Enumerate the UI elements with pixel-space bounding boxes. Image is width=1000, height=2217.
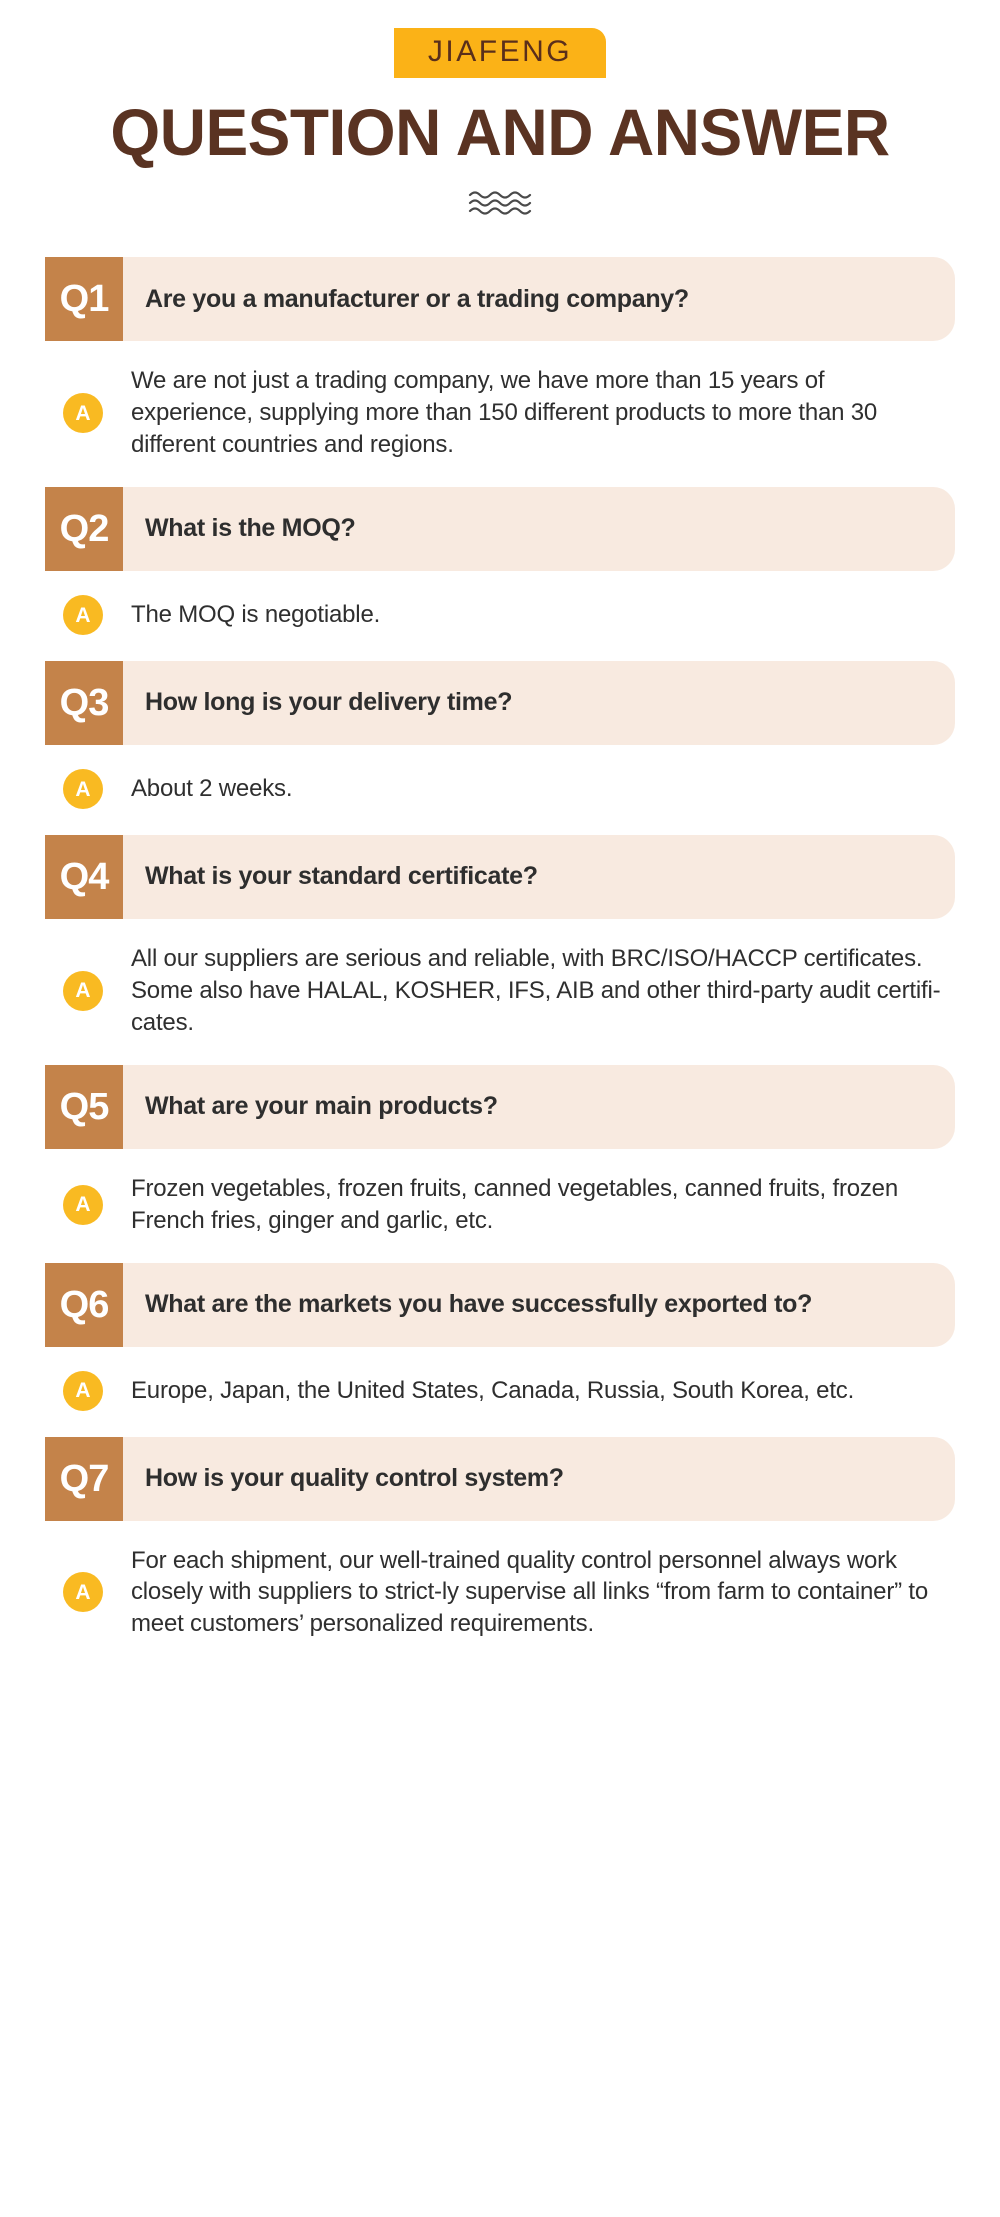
question-text: How is your quality control system? bbox=[123, 1437, 955, 1521]
question-text: What is your standard certificate? bbox=[123, 835, 955, 919]
faq-item: Q1Are you a manufacturer or a trading co… bbox=[45, 257, 955, 487]
answer-text: All our suppliers are serious and reliab… bbox=[131, 943, 951, 1039]
question-row[interactable]: Q1Are you a manufacturer or a trading co… bbox=[45, 257, 955, 341]
faq-item: Q3How long is your delivery time?AAbout … bbox=[45, 661, 955, 835]
question-text: What are your main products? bbox=[123, 1065, 955, 1149]
question-number-badge: Q2 bbox=[45, 487, 123, 571]
question-number-badge: Q4 bbox=[45, 835, 123, 919]
answer-badge-icon: A bbox=[63, 393, 103, 433]
answer-text: We are not just a trading company, we ha… bbox=[131, 365, 951, 461]
faq-list: Q1Are you a manufacturer or a trading co… bbox=[0, 257, 1000, 1706]
question-row[interactable]: Q6What are the markets you have successf… bbox=[45, 1263, 955, 1347]
question-text: Are you a manufacturer or a trading comp… bbox=[123, 257, 955, 341]
question-number-badge: Q6 bbox=[45, 1263, 123, 1347]
faq-page: { "header": { "brand": "JIAFENG", "title… bbox=[0, 0, 1000, 2217]
question-row[interactable]: Q2What is the MOQ? bbox=[45, 487, 955, 571]
answer-row: AThe MOQ is negotiable. bbox=[45, 571, 955, 661]
page-title: QUESTION AND ANSWER bbox=[15, 98, 985, 167]
question-number-badge: Q3 bbox=[45, 661, 123, 745]
faq-item: Q5What are your main products?AFrozen ve… bbox=[45, 1065, 955, 1263]
question-row[interactable]: Q7How is your quality control system? bbox=[45, 1437, 955, 1521]
faq-item: Q6What are the markets you have successf… bbox=[45, 1263, 955, 1437]
faq-item: Q4What is your standard certificate?AAll… bbox=[45, 835, 955, 1065]
question-number-badge: Q5 bbox=[45, 1065, 123, 1149]
answer-badge-icon: A bbox=[63, 595, 103, 635]
answer-badge-icon: A bbox=[63, 971, 103, 1011]
question-text: What is the MOQ? bbox=[123, 487, 955, 571]
question-number-badge: Q1 bbox=[45, 257, 123, 341]
answer-text: Frozen vegetables, frozen fruits, canned… bbox=[131, 1173, 951, 1237]
answer-badge-icon: A bbox=[63, 1572, 103, 1612]
answer-text: About 2 weeks. bbox=[131, 773, 951, 805]
brand-badge: JIAFENG bbox=[394, 28, 606, 78]
answer-badge-icon: A bbox=[63, 1371, 103, 1411]
question-row[interactable]: Q4What is your standard certificate? bbox=[45, 835, 955, 919]
answer-row: AFor each shipment, our well-trained qua… bbox=[45, 1521, 955, 1667]
question-text: How long is your delivery time? bbox=[123, 661, 955, 745]
question-row[interactable]: Q3How long is your delivery time? bbox=[45, 661, 955, 745]
answer-row: AEurope, Japan, the United States, Canad… bbox=[45, 1347, 955, 1437]
answer-badge-icon: A bbox=[63, 769, 103, 809]
answer-text: For each shipment, our well-trained qual… bbox=[131, 1545, 951, 1641]
answer-badge-icon: A bbox=[63, 1185, 103, 1225]
answer-row: AFrozen vegetables, frozen fruits, canne… bbox=[45, 1149, 955, 1263]
question-text: What are the markets you have successful… bbox=[123, 1263, 955, 1347]
faq-item: Q7How is your quality control system?AFo… bbox=[45, 1437, 955, 1667]
answer-row: AAll our suppliers are serious and relia… bbox=[45, 919, 955, 1065]
question-row[interactable]: Q5What are your main products? bbox=[45, 1065, 955, 1149]
answer-text: Europe, Japan, the United States, Canada… bbox=[131, 1375, 951, 1407]
answer-row: AAbout 2 weeks. bbox=[45, 745, 955, 835]
page-header: JIAFENG QUESTION AND ANSWER bbox=[0, 0, 1000, 219]
faq-item: Q2What is the MOQ?AThe MOQ is negotiable… bbox=[45, 487, 955, 661]
answer-row: AWe are not just a trading company, we h… bbox=[45, 341, 955, 487]
question-number-badge: Q7 bbox=[45, 1437, 123, 1521]
wave-divider-icon bbox=[468, 189, 532, 219]
answer-text: The MOQ is negotiable. bbox=[131, 599, 951, 631]
